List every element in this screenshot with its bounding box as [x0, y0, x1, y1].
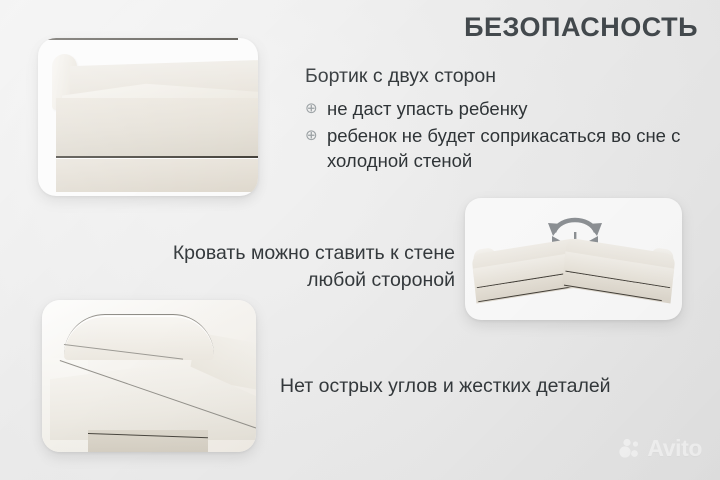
- avito-wordmark: Avito: [647, 435, 702, 462]
- bed-drawer-bottom-line: [38, 38, 238, 40]
- circled-plus-icon: ⊕: [305, 97, 318, 121]
- reversible-line-1: Кровать можно ставить к стене: [110, 240, 455, 267]
- photo-card-bed-rounded-corner: [42, 300, 256, 452]
- list-item-label: не даст упасть ребенку: [327, 98, 527, 119]
- reversible-line-2: любой стороной: [110, 267, 455, 294]
- bed-illustration-1: [38, 38, 258, 196]
- text-block-no-sharp-edges: Нет острых углов и жестких деталей: [280, 373, 680, 400]
- text-block-reversible: Кровать можно ставить к стене любой стор…: [110, 240, 455, 294]
- list-item: ⊕ не даст упасть ребенку: [305, 96, 705, 121]
- list-item: ⊕ ребенок не будет соприкасаться во сне …: [305, 123, 705, 173]
- photo-card-bed-side-rail: [38, 38, 258, 196]
- bed-drawer-split-line: [56, 156, 258, 158]
- mirrored-beds-illustration: [465, 198, 682, 320]
- safety-rails-list: ⊕ не даст упасть ребенку ⊕ ребенок не бу…: [305, 96, 705, 173]
- photo-card-bed-mirrored-pair: [465, 198, 682, 320]
- page-title: БЕЗОПАСНОСТЬ: [464, 12, 698, 43]
- bed-drawer: [56, 159, 258, 192]
- avito-watermark: Avito: [618, 435, 702, 462]
- text-block-safety-rails: Бортик с двух сторон ⊕ не даст упасть ре…: [305, 64, 705, 175]
- list-item-label: ребенок не будет соприкасаться во сне с …: [327, 125, 680, 171]
- circled-plus-icon: ⊕: [305, 124, 318, 148]
- rounded-corner-illustration: [42, 300, 256, 452]
- avito-dots-icon: [618, 437, 642, 461]
- bed-right-mirrored: [562, 232, 677, 305]
- bed-side-panel: [56, 98, 258, 156]
- safety-rails-heading: Бортик с двух сторон: [305, 64, 705, 89]
- poster-canvas: БЕЗОПАСНОСТЬ Бортик с двух сторон ⊕ не д…: [0, 0, 720, 480]
